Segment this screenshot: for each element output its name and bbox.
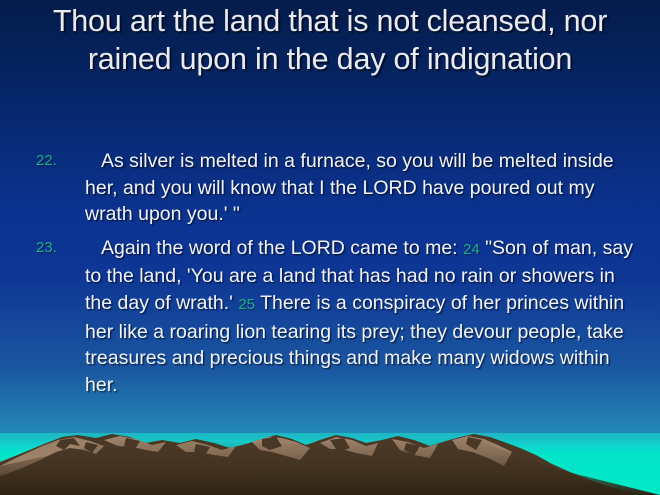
verse-paragraph-23: 23. Again the word of the LORD came to m… xyxy=(0,235,660,399)
verse-paragraph-22: 22. As silver is melted in a furnace, so… xyxy=(0,148,660,228)
inline-verse-number-25: 25 xyxy=(238,296,255,313)
ground-shading xyxy=(0,438,660,495)
slide-title: Thou art the land that is not cleansed, … xyxy=(18,2,642,78)
verse-number-23: 23. xyxy=(36,238,57,257)
verse-text-22: As silver is melted in a furnace, so you… xyxy=(85,150,614,225)
inline-verse-number-24: 24 xyxy=(463,241,480,258)
slide-body: 22. As silver is melted in a furnace, so… xyxy=(0,148,660,405)
verse-text-23-segment-1: Again the word of the LORD came to me: xyxy=(101,237,458,259)
presentation-slide: Thou art the land that is not cleansed, … xyxy=(0,0,660,495)
mountain-range-illustration xyxy=(0,410,660,495)
verse-number-22: 22. xyxy=(36,151,57,170)
